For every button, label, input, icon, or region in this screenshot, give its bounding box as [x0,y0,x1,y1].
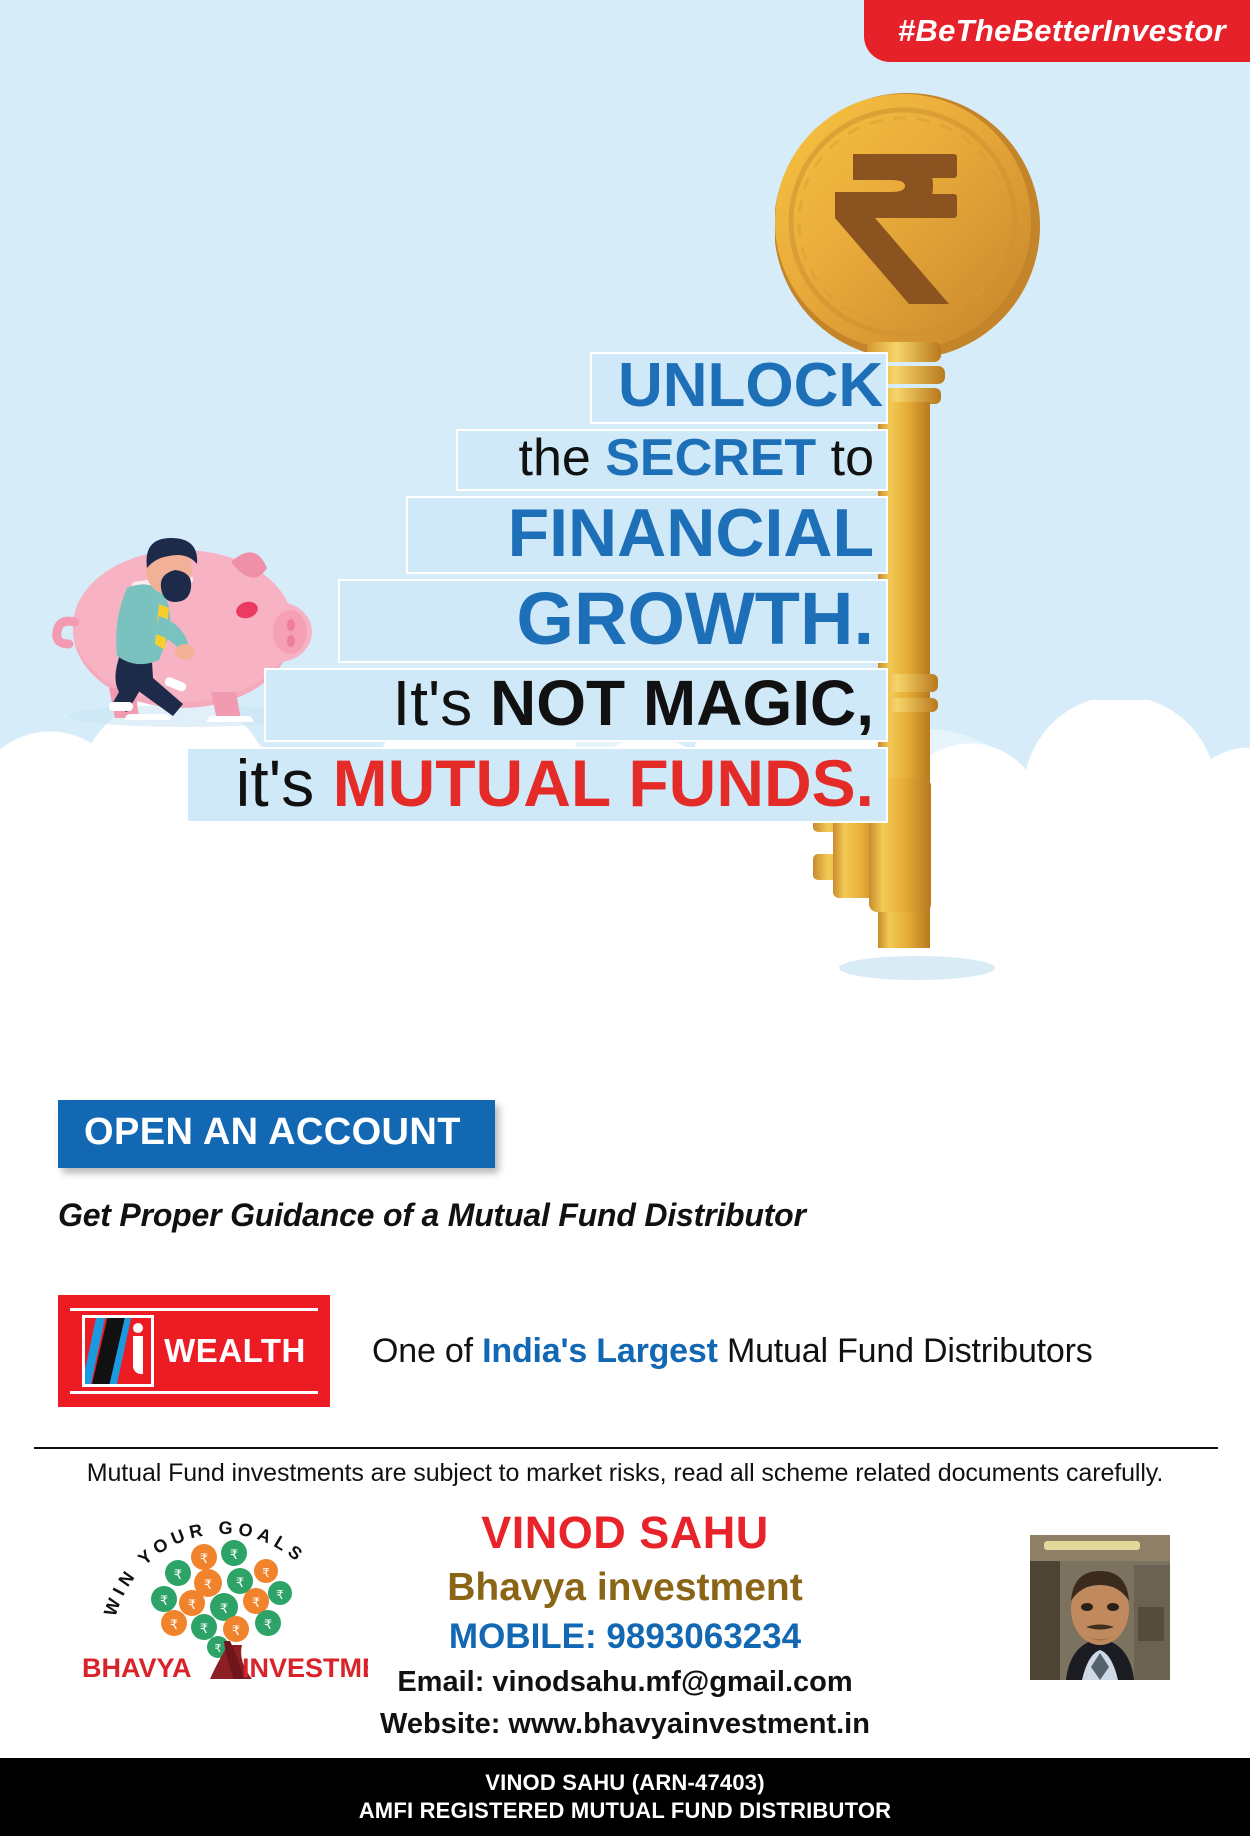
svg-text:₹: ₹ [215,1643,222,1655]
svg-text:₹: ₹ [276,1588,284,1602]
nj-logo-top-rule [70,1308,318,1311]
advisor-name: VINOD SAHU [340,1508,910,1558]
headline-block: UNLOCK the SECRET to FINANCIAL GROWTH. I… [0,352,888,828]
headline-line-4: GROWTH. [338,579,888,663]
headline-to: to [816,429,874,487]
svg-text:₹: ₹ [170,1617,178,1632]
nj-tagline-highlight: India's Largest [482,1332,718,1370]
contact-details-block: VINOD SAHU Bhavya investment MOBILE: 989… [340,1508,910,1740]
cta-section: OPEN AN ACCOUNT Get Proper Guidance of a… [58,1100,806,1234]
svg-text:₹: ₹ [200,1621,208,1636]
svg-text:₹: ₹ [220,1601,228,1616]
headline-its-2: it's [236,746,333,820]
bhavya-name-left: BHAVYA [82,1653,192,1683]
nj-wealth-logo: WEALTH [58,1295,330,1407]
svg-text:₹: ₹ [252,1595,260,1610]
open-an-account-button[interactable]: OPEN AN ACCOUNT [58,1100,495,1168]
advisor-website[interactable]: Website: www.bhavyainvestment.in [340,1708,910,1740]
headline-mutual-funds: MUTUAL FUNDS. [333,746,874,820]
svg-text:₹: ₹ [204,1577,212,1592]
headline-financial: FINANCIAL [508,495,874,571]
headline-line-6: it's MUTUAL FUNDS. [186,747,888,823]
nj-wealth-wordmark: WEALTH [164,1332,306,1370]
hashtag-banner: #BeTheBetterInvestor [864,0,1250,62]
headline-its: It's [392,667,490,739]
advisor-mobile[interactable]: MOBILE: 9893063234 [340,1617,910,1656]
headline-the: the [519,429,606,487]
svg-text:₹: ₹ [262,1566,270,1580]
footer-bar: VINOD SAHU (ARN-47403) AMFI REGISTERED M… [0,1758,1250,1836]
hashtag-text: #BeTheBetterInvestor [898,13,1226,49]
headline-line-3: FINANCIAL [406,496,888,574]
headline-secret: SECRET [605,429,816,487]
cta-subtitle: Get Proper Guidance of a Mutual Fund Dis… [58,1197,806,1234]
svg-text:₹: ₹ [230,1547,238,1562]
nj-wealth-row: WEALTH One of India's Largest Mutual Fun… [58,1295,1198,1407]
market-risk-disclaimer: Mutual Fund investments are subject to m… [0,1459,1250,1488]
svg-text:₹: ₹ [236,1575,244,1590]
svg-text:₹: ₹ [188,1597,196,1612]
nj-logo-bottom-rule [70,1391,318,1394]
headline-not-magic: NOT MAGIC, [490,667,874,739]
bhavya-investment-logo: WIN YOUR GOALS ₹ ₹ ₹ ₹ ₹ ₹ ₹ ₹ ₹ ₹ ₹ ₹ ₹… [78,1495,368,1685]
advisor-firm: Bhavya investment [340,1566,910,1610]
headline-line-2: the SECRET to [456,429,888,491]
headline-growth: GROWTH. [516,577,874,660]
nj-monogram-icon [82,1315,154,1387]
headline-line-1: UNLOCK [590,352,888,424]
svg-text:₹: ₹ [174,1567,182,1582]
advisor-portrait-photo [1030,1535,1170,1680]
disclaimer-divider [34,1447,1218,1449]
svg-text:₹: ₹ [200,1551,208,1566]
svg-text:₹: ₹ [160,1593,168,1608]
poster-canvas: #BeTheBetterInvestor [0,0,1250,1836]
headline-unlock: UNLOCK [618,351,883,420]
footer-arn-line: VINOD SAHU (ARN-47403) [485,1769,764,1797]
nj-tagline: One of India's Largest Mutual Fund Distr… [372,1332,1093,1371]
nj-tagline-post: Mutual Fund Distributors [718,1332,1093,1370]
headline-line-5: It's NOT MAGIC, [264,668,888,742]
svg-text:₹: ₹ [264,1617,272,1632]
advisor-email[interactable]: Email: vinodsahu.mf@gmail.com [340,1666,910,1698]
footer-amfi-line: AMFI REGISTERED MUTUAL FUND DISTRIBUTOR [359,1797,892,1825]
svg-text:₹: ₹ [232,1623,240,1638]
nj-tagline-pre: One of [372,1332,482,1370]
